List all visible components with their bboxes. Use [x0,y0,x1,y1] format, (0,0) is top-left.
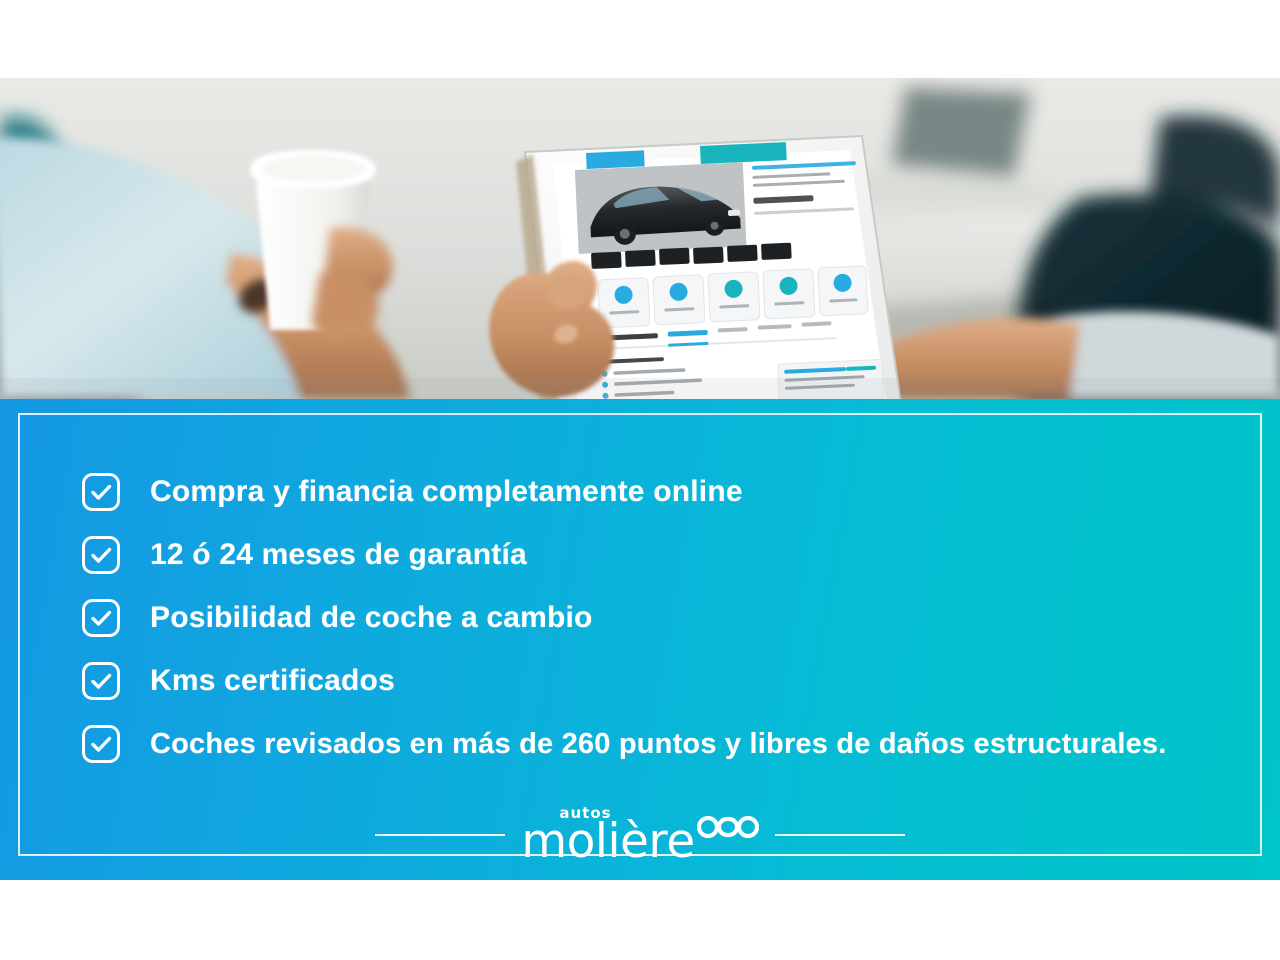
feature-item: 12 ó 24 meses de garantía [80,524,1210,586]
features-panel: Compra y financia completamente online 1… [0,399,1280,880]
feature-label: Coches revisados en más de 260 puntos y … [150,728,1167,761]
logo-rule-right [775,834,905,836]
promo-banner: Compra y financia completamente online 1… [0,0,1280,960]
feature-item: Kms certificados [80,650,1210,712]
feature-label: Kms certificados [150,664,395,698]
feature-item: Coches revisados en más de 260 puntos y … [80,713,1210,775]
top-white-margin [0,0,1280,78]
logo-autos-text: autos [559,804,611,822]
moliere-car-chain-mark-icon [697,814,759,840]
brand-logo-lockup: autos molière [0,799,1280,871]
check-square-icon [80,723,122,765]
hero-photo [0,78,1280,399]
feature-label: Posibilidad de coche a cambio [150,601,593,635]
feature-label: Compra y financia completamente online [150,475,743,509]
check-square-icon [80,597,122,639]
feature-item: Compra y financia completamente online [80,461,1210,523]
hero-photo-illustration [0,78,1280,399]
bottom-white-margin [0,880,1280,960]
check-square-icon [80,534,122,576]
check-square-icon [80,471,122,513]
feature-list: Compra y financia completamente online 1… [80,461,1210,776]
logo-block: autos molière [511,806,768,865]
logo-rule-left [375,834,505,836]
feature-label: 12 ó 24 meses de garantía [150,538,527,572]
feature-item: Posibilidad de coche a cambio [80,587,1210,649]
check-square-icon [80,660,122,702]
